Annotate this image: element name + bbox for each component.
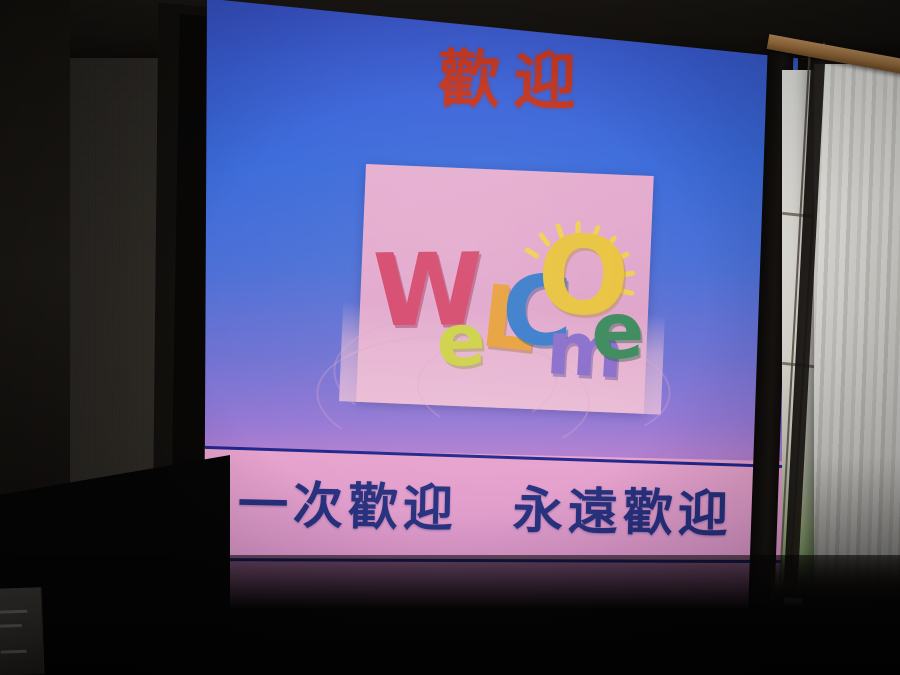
poster-text-line bbox=[0, 624, 22, 628]
wall-poster bbox=[0, 587, 45, 675]
letter-e-green: e bbox=[591, 292, 645, 371]
poster-text-line bbox=[1, 650, 27, 654]
projected-slide: 歡迎 W e L C O m e 一次歡迎 永遠歡迎 bbox=[198, 0, 798, 642]
slide-title: 歡迎 bbox=[437, 28, 591, 121]
poster-text-line bbox=[0, 610, 27, 614]
photo-scene: 歡迎 W e L C O m e 一次歡迎 永遠歡迎 bbox=[0, 0, 900, 675]
slide-subtitle: 一次歡迎 永遠歡迎 bbox=[237, 464, 778, 547]
window-curtain[interactable] bbox=[814, 64, 900, 624]
welcome-picture: W e L C O m e bbox=[356, 164, 654, 414]
foreground-dark-band bbox=[0, 555, 900, 675]
slide-background: 歡迎 W e L C O m e 一次歡迎 永遠歡迎 bbox=[198, 0, 798, 642]
curtain-shading bbox=[814, 64, 900, 624]
